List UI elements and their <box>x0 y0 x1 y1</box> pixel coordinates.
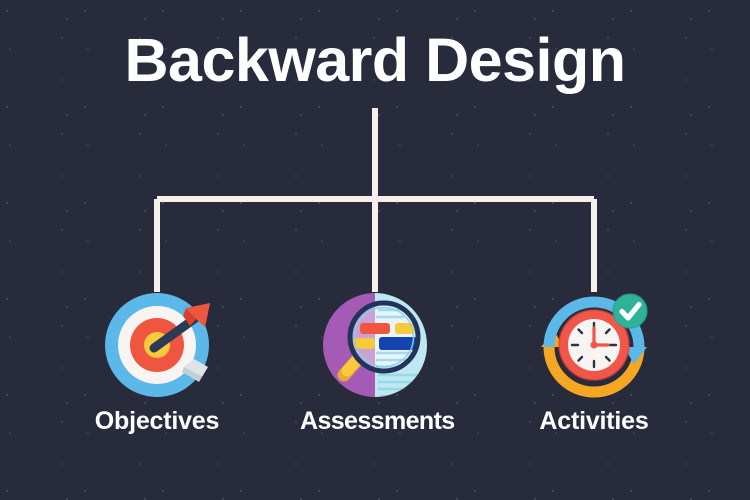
node-assessments[interactable]: Assessments <box>300 283 450 436</box>
node-label-objectives: Objectives <box>82 407 232 436</box>
diagram-canvas: Backward Design <box>0 0 750 500</box>
clock-cycle-check-icon <box>535 283 653 401</box>
node-objectives[interactable]: Objectives <box>82 283 232 436</box>
target-dartboard-icon <box>98 283 216 401</box>
node-label-assessments: Assessments <box>300 407 450 436</box>
node-activities[interactable]: Activities <box>519 283 669 436</box>
node-label-activities: Activities <box>519 407 669 436</box>
magnifying-glass-document-icon <box>316 283 434 401</box>
